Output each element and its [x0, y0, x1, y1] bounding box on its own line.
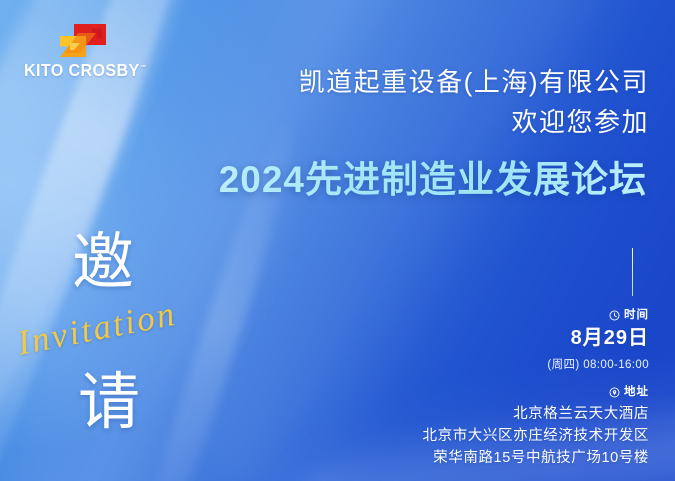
- vertical-divider: [632, 248, 633, 296]
- address-heading: 地址: [349, 387, 649, 399]
- address-line-3: 荣华南路15号中航技广场10号楼: [349, 447, 649, 469]
- invitation-lettering: 邀 请 Invitation: [48, 232, 198, 472]
- time-group: 时间 8月29日 (周四) 08:00-16:00: [349, 310, 649, 373]
- address-line-2: 北京市大兴区亦庄经济技术开发区: [349, 425, 649, 447]
- location-pin-icon: [609, 387, 620, 398]
- brand-logo: KITO CROSBY™: [24, 22, 149, 80]
- address-group: 地址 北京格兰云天大酒店 北京市大兴区亦庄经济技术开发区 荣华南路15号中航技广…: [349, 387, 649, 470]
- invite-char-qing: 请: [78, 372, 140, 434]
- header-block: 凯道起重设备(上海)有限公司 欢迎您参加: [149, 66, 649, 140]
- event-date: 8月29日: [349, 327, 649, 350]
- trademark-icon: ™: [140, 65, 146, 71]
- brand-wordmark-text: KITO CROSBY: [24, 60, 140, 80]
- kito-crosby-mark-icon: [56, 22, 112, 60]
- event-info-panel: 时间 8月29日 (周四) 08:00-16:00 地址 北京格兰云天大酒店 北…: [349, 310, 649, 479]
- company-name: 凯道起重设备(上海)有限公司: [149, 66, 649, 99]
- event-time-detail: (周四) 08:00-16:00: [349, 357, 649, 373]
- invitation-card: KITO CROSBY™ 凯道起重设备(上海)有限公司 欢迎您参加 2024先进…: [0, 0, 675, 481]
- brand-wordmark: KITO CROSBY™: [24, 62, 139, 80]
- invite-char-yao: 邀: [72, 232, 134, 294]
- time-heading: 时间: [349, 310, 649, 322]
- time-label: 时间: [624, 310, 649, 322]
- welcome-text: 欢迎您参加: [149, 106, 649, 139]
- address-line-1: 北京格兰云天大酒店: [349, 403, 649, 425]
- invitation-script-text: Invitation: [14, 294, 180, 364]
- address-label: 地址: [624, 387, 649, 399]
- event-headline: 2024先进制造业发展论坛: [127, 158, 647, 202]
- clock-icon: [609, 310, 620, 321]
